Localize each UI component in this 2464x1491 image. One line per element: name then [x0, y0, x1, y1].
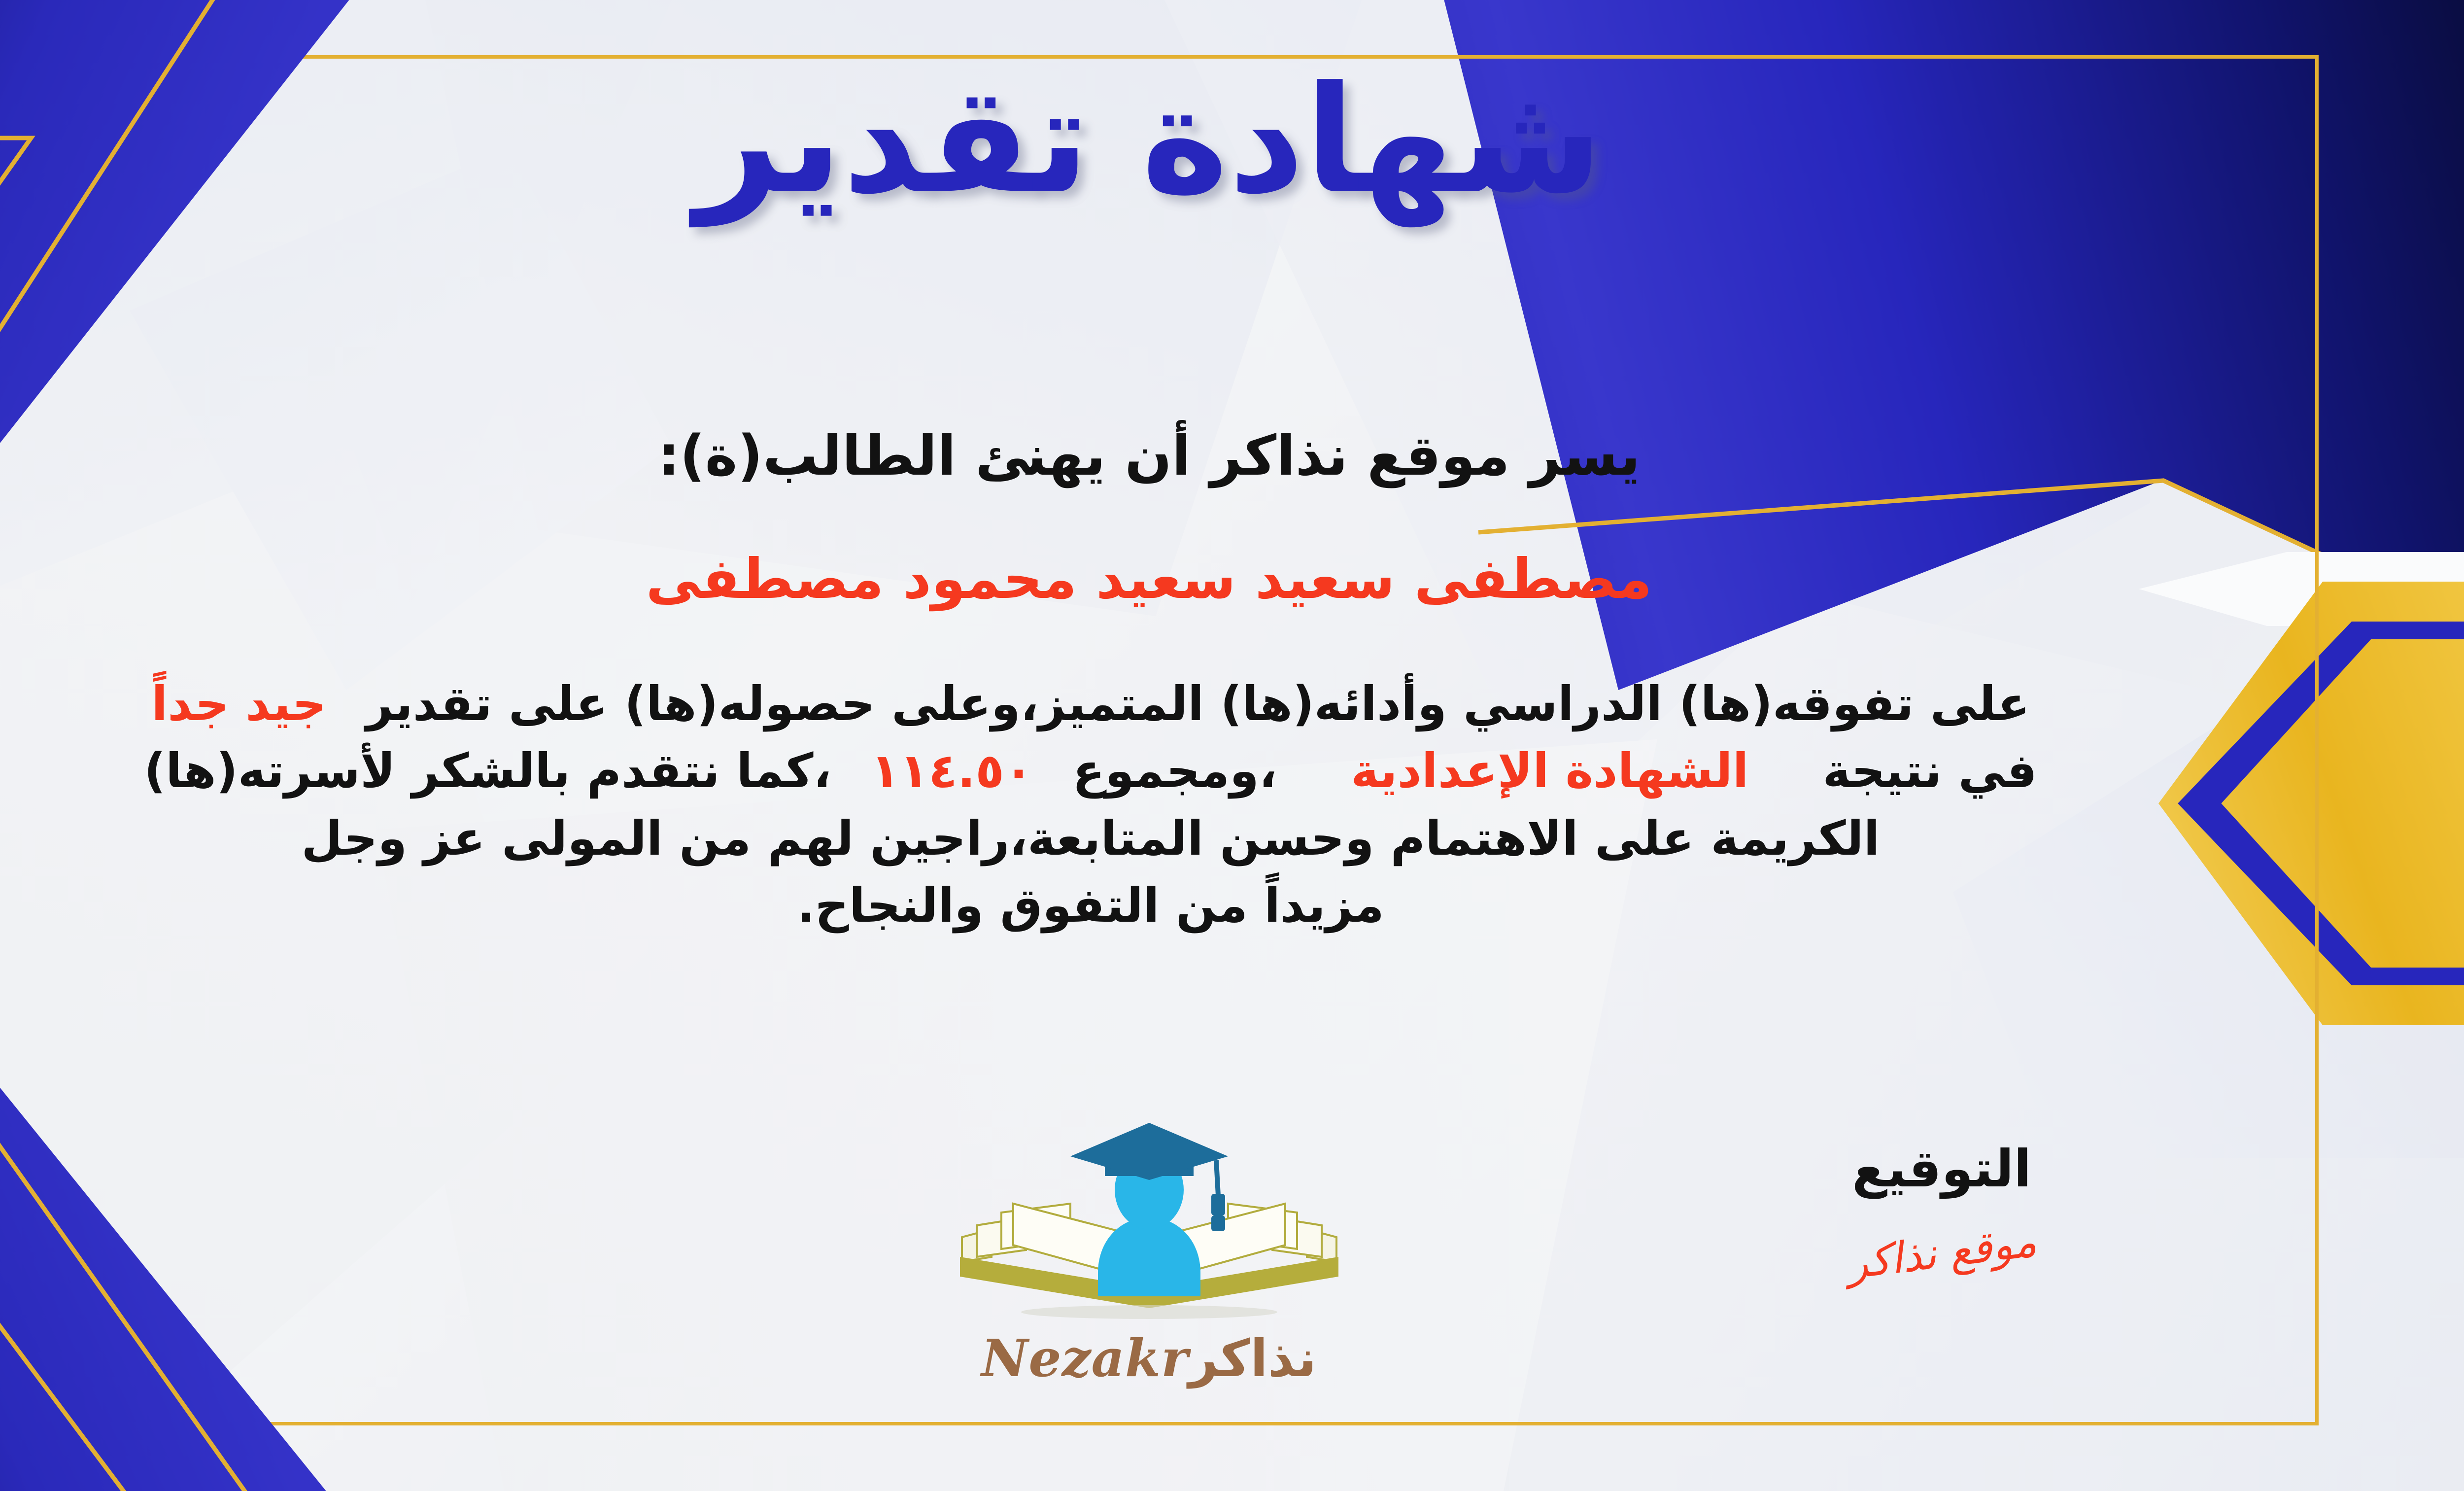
brand-name-arabic: نذاكر [1189, 1328, 1317, 1388]
brand-logo: نذاكرNezakr [932, 1119, 1366, 1420]
body-line-2: في نتيجةالشهادة الإعدادية،ومجموع١١٤.٥٠،ك… [0, 737, 2199, 804]
certificate-content: شهادة تقدير يسر موقع نذاكر أن يهنئ الطال… [0, 0, 2464, 1491]
student-name: مصطفى سعيد سعيد محمود مصطفى [0, 547, 2464, 611]
body-line-4: مزيداً من التفوق والنجاح. [0, 872, 2199, 939]
greeting-text: يسر موقع نذاكر أن يهنئ الطالب(ة): [0, 424, 2464, 488]
exam-name: الشهادة الإعدادية [1351, 743, 1748, 798]
brand-name-latin: Nezakr [981, 1328, 1189, 1388]
body-line-2-suffix: ،كما نتقدم بالشكر لأسرته(ها) [144, 743, 831, 798]
body-line-1: على تفوقه(ها) الدراسي وأدائه(ها) المتميز… [0, 670, 2199, 737]
body-line-1-text: على تفوقه(ها) الدراسي وأدائه(ها) المتميز… [366, 676, 2030, 731]
body-line-3: الكريمة على الاهتمام وحسن المتابعة،راجين… [0, 805, 2199, 872]
total-score-value: ١١٤.٥٠ [871, 743, 1033, 798]
page-title: شهادة تقدير [0, 59, 2464, 222]
signature-mark: موقع نذاكر [1844, 1217, 2039, 1289]
certificate-body: على تفوقه(ها) الدراسي وأدائه(ها) المتميز… [0, 670, 2199, 939]
signature-block: التوقيع موقع نذاكر [1759, 1139, 2124, 1278]
signature-label: التوقيع [1759, 1139, 2124, 1199]
body-line-2-total-label: ،ومجموع [1072, 743, 1277, 798]
certificate-page: شهادة تقدير يسر موقع نذاكر أن يهنئ الطال… [0, 0, 2464, 1491]
graduate-book-logo-icon [932, 1119, 1366, 1331]
grade-value: جيد جداً [151, 676, 326, 731]
brand-logo-text: نذاكرNezakr [932, 1328, 1366, 1388]
body-line-2-prefix: في نتيجة [1823, 743, 2037, 798]
